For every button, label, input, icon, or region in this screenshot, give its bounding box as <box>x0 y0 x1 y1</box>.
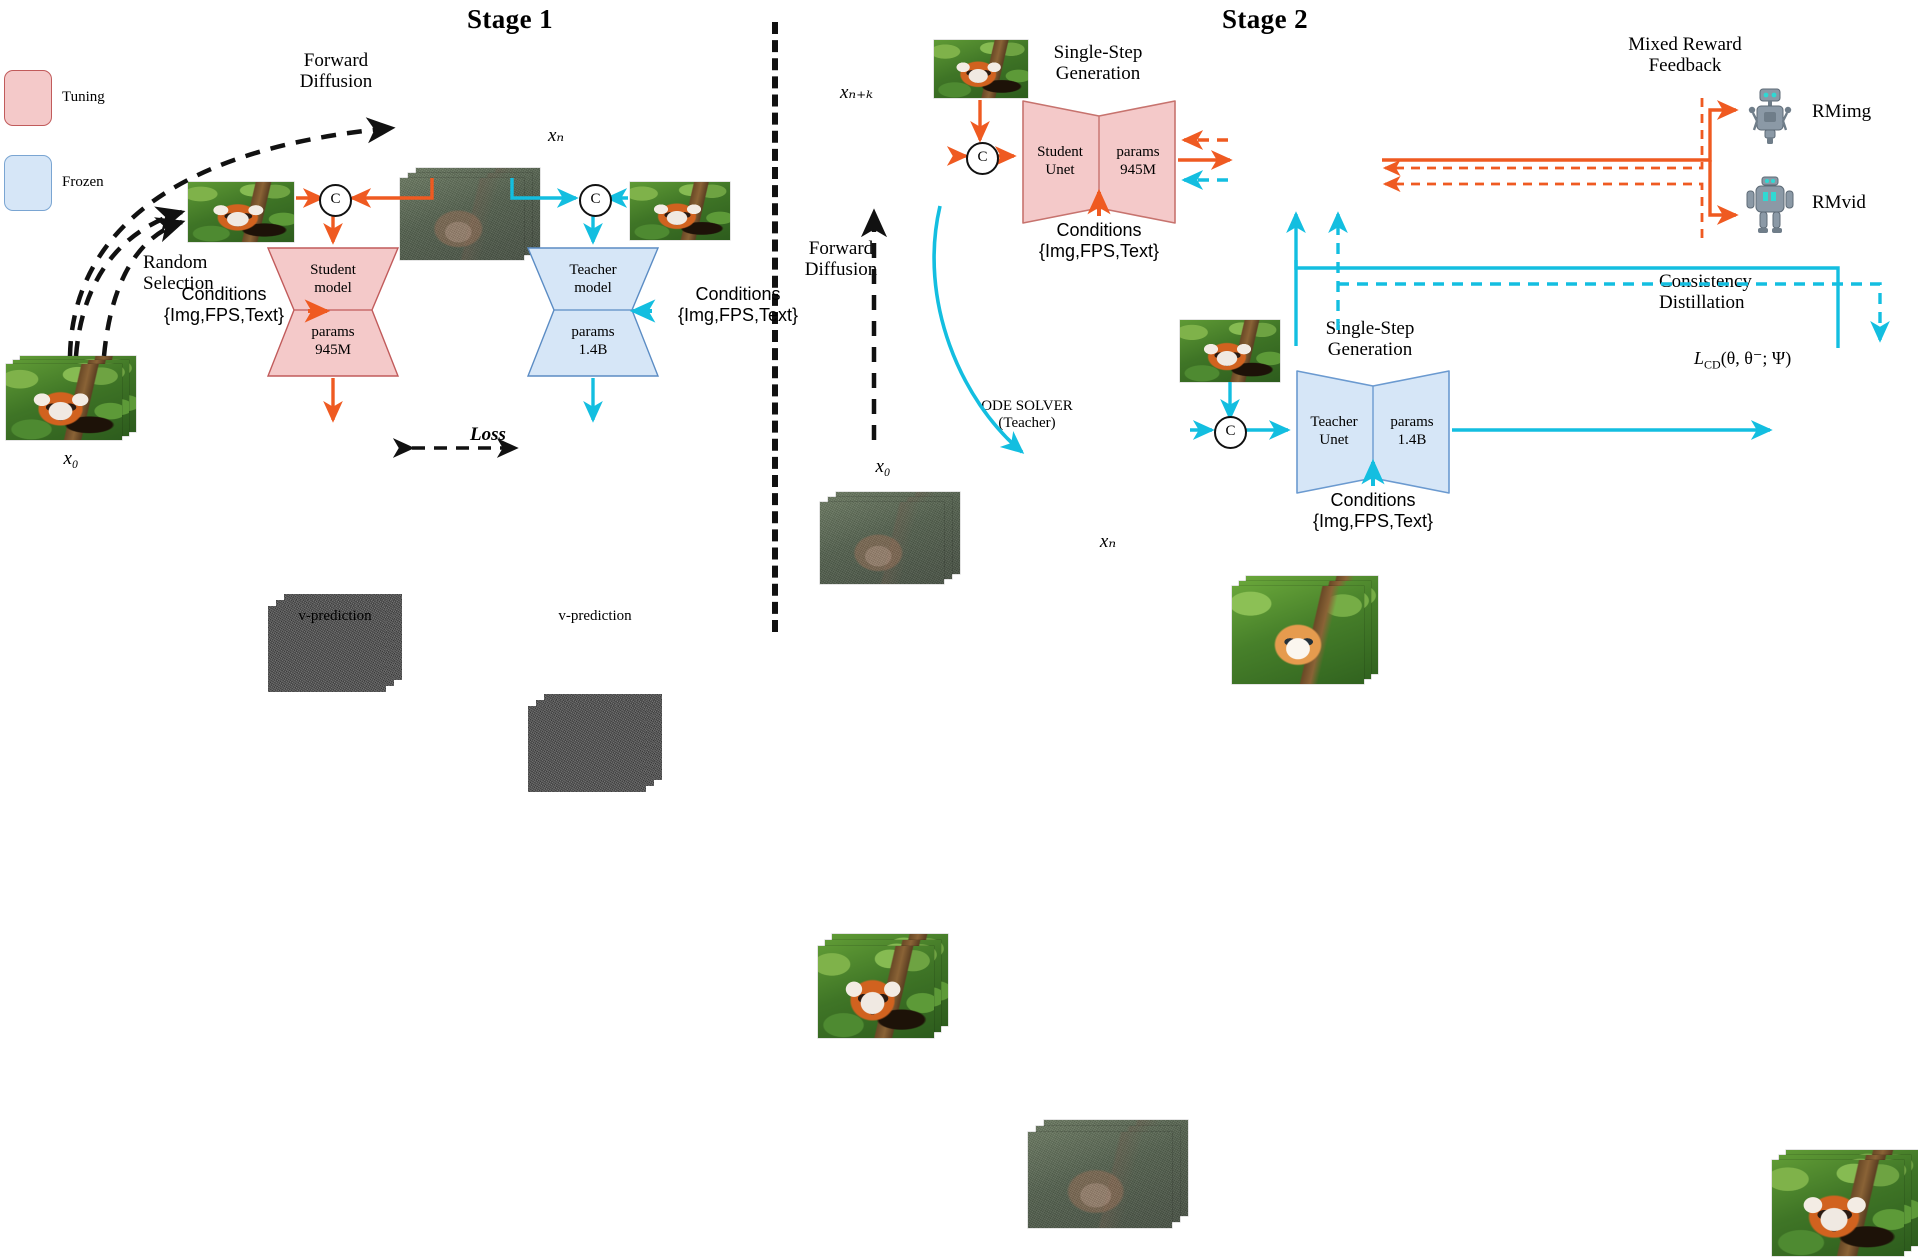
legend-swatch-frozen <box>4 155 52 211</box>
stage2-xnk-label: xₙ₊ₖ <box>840 81 873 104</box>
stage1-title: Stage 1 <box>385 4 635 35</box>
stage2-single-step-top-label: Single-Step Generation <box>1008 42 1188 85</box>
stage2-teacher-cond-image <box>1180 320 1280 382</box>
cond-t-line1: Conditions <box>654 284 822 305</box>
legend-label-frozen: Frozen <box>62 174 104 191</box>
stage2-teacher-output-frames <box>1772 1150 1918 1258</box>
stage1-student-model-block: Student model params 945M <box>266 246 400 378</box>
legend-label-tuning: Tuning <box>62 89 105 106</box>
stage2-xn-frames <box>1028 1120 1188 1232</box>
stage2-student-unet-block: Student Unet params 945M <box>1020 98 1178 226</box>
stage2-ode-solver-label: ODE SOLVER (Teacher) <box>938 398 1116 433</box>
teacher-unet-name: Teacher Unet <box>1296 414 1372 449</box>
stage2-xnk-frames <box>820 492 960 588</box>
rm-img-label: RMimg <box>1812 101 1871 123</box>
stage2-single-step-bottom-label: Single-Step Generation <box>1280 318 1460 361</box>
arrow-output-to-rmvid <box>1710 160 1736 215</box>
arrow-rmvid-back <box>1385 184 1702 238</box>
stage2-xn-label: xₙ <box>1028 530 1188 553</box>
student-unet-name: Student Unet <box>1022 144 1098 179</box>
stage2-x0-frames <box>818 934 948 1038</box>
stage1-forward-diffusion-label: Forward Diffusion <box>276 50 396 93</box>
rs-line1: Random <box>143 252 214 273</box>
rm-vid-robot-icon <box>1742 175 1798 239</box>
stage2-forward-diffusion-label: Forward Diffusion <box>786 238 896 281</box>
stage2-teacher-concat-node: C <box>1214 416 1247 449</box>
stage2-student-concat-node: C <box>966 142 999 175</box>
stage2-consistency-distillation-label: Consistency Distillation <box>1659 271 1752 314</box>
stage1-xn-frames <box>400 168 540 264</box>
stage2-teacher-conditions-label: Conditions {Img,FPS,Text} <box>1288 490 1458 532</box>
stage1-teacher-conditions-label: Conditions {Img,FPS,Text} <box>654 284 822 326</box>
stage2-loss-formula: LCD(θ, θ⁻; Ψ) <box>1694 348 1791 373</box>
stage1-teacher-concat-node: C <box>579 184 612 217</box>
stage1-teacher-cond-image <box>630 182 730 240</box>
stage1-student-concat-node: C <box>319 184 352 217</box>
stage1-student-vpred-label: v-prediction <box>262 608 408 625</box>
stage-divider <box>772 22 778 632</box>
fd-line2: Diffusion <box>276 71 396 92</box>
teacher-model-name: Teacher model <box>526 262 660 297</box>
legend-swatch-tuning <box>4 70 52 126</box>
teacher-unet-params: params 1.4B <box>1374 414 1450 449</box>
arrow-rmimg-back <box>1385 98 1702 168</box>
stage1-teacher-vpred-frames <box>528 694 662 794</box>
diagram-canvas: Tuning Frozen Stage 1 Stage 2 x₀ Forward… <box>0 0 1918 651</box>
rm-vid-label: RMvid <box>1812 192 1866 214</box>
stage1-xn-label: xₙ <box>548 124 564 147</box>
stage2-x0-label: x₀ <box>818 456 948 478</box>
rm-img-robot-icon <box>1742 85 1798 149</box>
arrow-output-to-rmimg <box>1382 110 1736 160</box>
stage1-teacher-vpred-label: v-prediction <box>522 608 668 625</box>
teacher-model-params: params 1.4B <box>526 324 660 359</box>
stage2-teacher-unet-block: Teacher Unet params 1.4B <box>1294 368 1452 496</box>
stage2-student-output-frames <box>1232 576 1378 686</box>
stage2-title: Stage 2 <box>1140 4 1390 35</box>
stage2-student-conditions-label: Conditions {Img,FPS,Text} <box>1014 220 1184 262</box>
student-model-name: Student model <box>266 262 400 297</box>
student-model-params: params 945M <box>266 324 400 359</box>
stage1-student-cond-image <box>188 182 294 242</box>
stage2-mixed-reward-label: Mixed Reward Feedback <box>1590 34 1780 77</box>
stage1-loss-label: Loss <box>452 424 524 446</box>
stage1-teacher-model-block: Teacher model params 1.4B <box>526 246 660 378</box>
student-unet-params: params 945M <box>1100 144 1176 179</box>
stage1-x0-frames <box>6 356 136 440</box>
fd-line1: Forward <box>276 50 396 71</box>
stage1-x0-label: x₀ <box>6 448 136 470</box>
cond-t-line2: {Img,FPS,Text} <box>654 305 822 326</box>
